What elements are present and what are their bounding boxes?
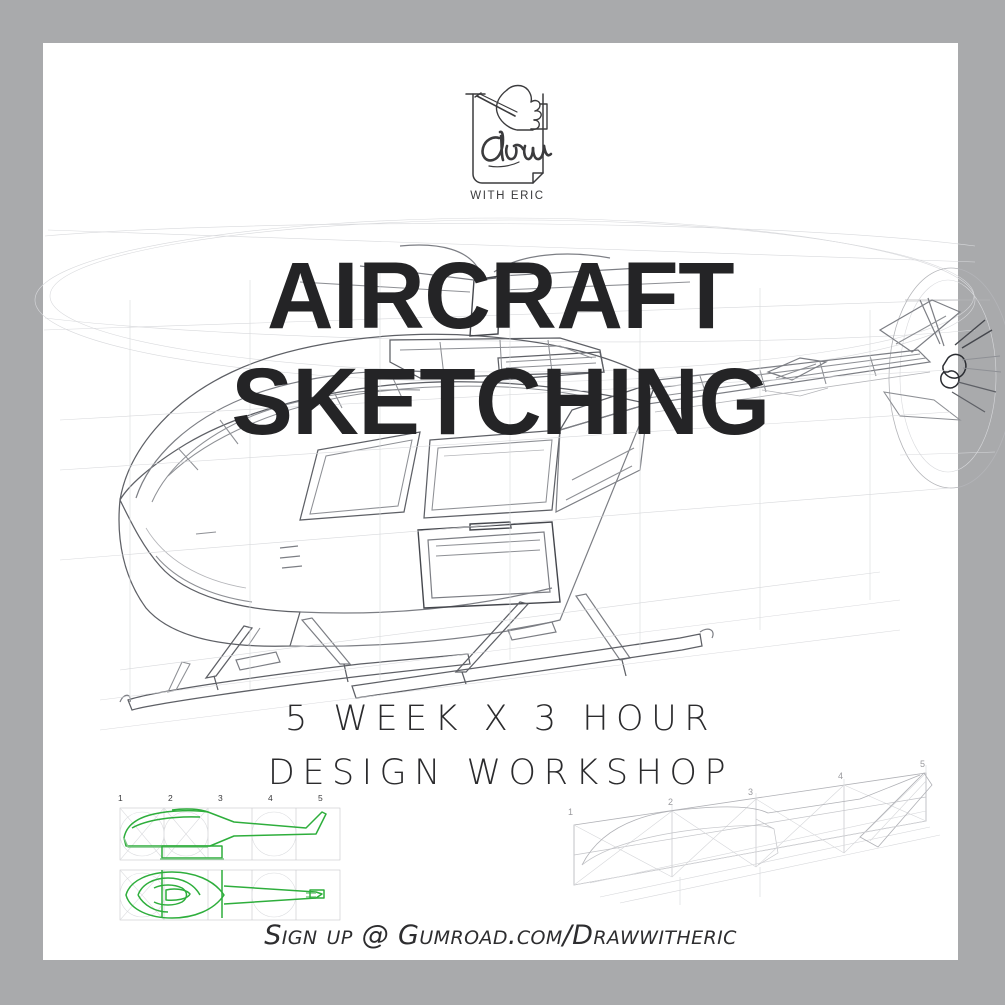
diagram-top-view bbox=[120, 870, 340, 920]
proportion-diagram: .ggrid{fill:none;stroke:#c6c7ca;stroke-w… bbox=[110, 790, 350, 930]
brand-logo: WITH ERIC bbox=[455, 78, 560, 208]
signup-footer[interactable]: Sign up @ Gumroad.com/Drawwitheric bbox=[43, 920, 958, 951]
logo-tagline: WITH ERIC bbox=[455, 190, 560, 202]
poster-canvas: .u1{fill:none;stroke:#c9cacd;stroke-widt… bbox=[0, 0, 1005, 1005]
subtitle-line-1: 5 WEEK X 3 HOUR bbox=[43, 692, 958, 746]
station-label: 1 bbox=[568, 807, 573, 817]
draw-with-eric-logo-icon bbox=[455, 78, 560, 208]
diagram-side-view bbox=[120, 808, 340, 860]
title-line-2: SKETCHING bbox=[57, 356, 945, 448]
workshop-subtitle: 5 WEEK X 3 HOUR DESIGN WORKSHOP bbox=[43, 692, 958, 801]
signup-link[interactable]: Sign up @ Gumroad.com/Drawwitheric bbox=[264, 920, 737, 951]
page-title: AIRCRAFT SKETCHING bbox=[43, 250, 958, 448]
title-line-1: AIRCRAFT bbox=[57, 250, 945, 342]
subtitle-line-2: DESIGN WORKSHOP bbox=[43, 746, 958, 800]
